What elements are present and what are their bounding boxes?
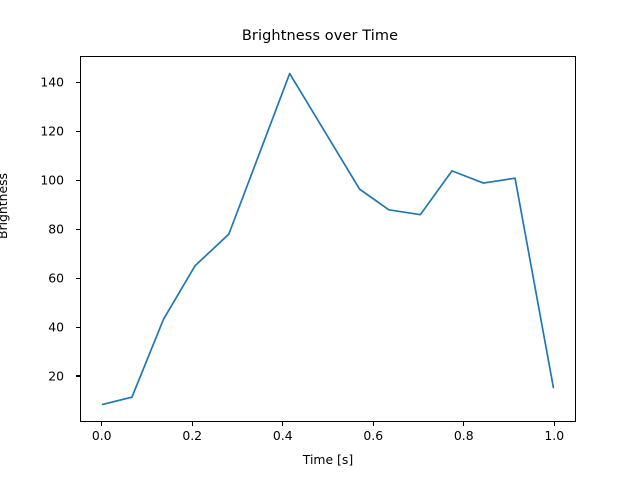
x-axis-label: Time [s] <box>80 452 576 467</box>
data-line-svg <box>81 57 575 421</box>
x-tick-mark <box>554 422 555 426</box>
y-tick-label: 60 <box>18 271 64 286</box>
x-tick-mark <box>373 422 374 426</box>
y-tick-label: 40 <box>18 320 64 335</box>
x-tick-label: 0.8 <box>434 428 494 443</box>
x-tick-mark <box>282 422 283 426</box>
brightness-line-series <box>103 74 554 405</box>
x-tick-mark <box>101 422 102 426</box>
x-tick-label: 0.2 <box>162 428 222 443</box>
y-tick-label: 80 <box>18 222 64 237</box>
y-tick-label: 120 <box>18 124 64 139</box>
x-tick-label: 0.4 <box>253 428 313 443</box>
y-tick-label: 100 <box>18 173 64 188</box>
plot-area <box>80 56 576 422</box>
x-tick-label: 0.0 <box>72 428 132 443</box>
y-axis-label: Brightness <box>0 173 10 239</box>
x-tick-mark <box>463 422 464 426</box>
x-tick-label: 1.0 <box>524 428 584 443</box>
chart-figure: Brightness over Time Brightness 20406080… <box>0 0 640 480</box>
y-tick-label: 140 <box>18 75 64 90</box>
chart-title: Brightness over Time <box>0 28 640 44</box>
y-tick-label: 20 <box>18 369 64 384</box>
x-tick-label: 0.6 <box>343 428 403 443</box>
x-tick-mark <box>192 422 193 426</box>
